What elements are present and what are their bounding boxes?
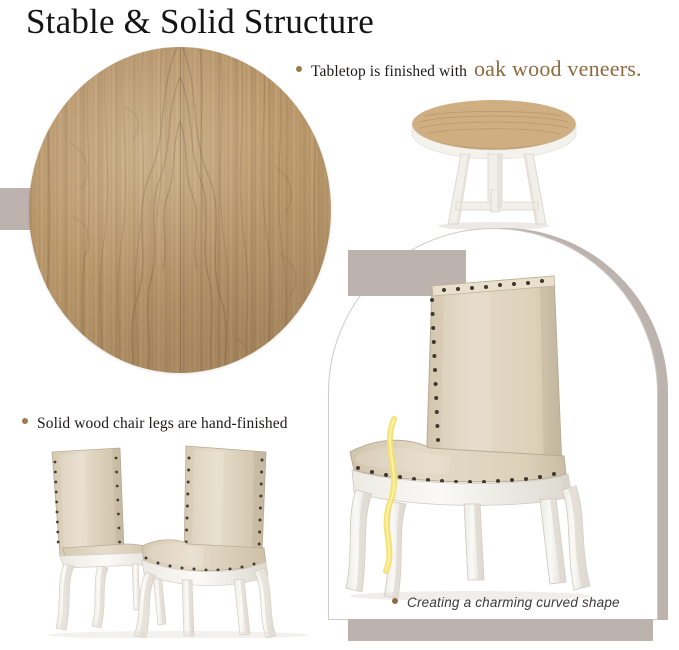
yellow-highlight-curve-icon — [372, 415, 412, 575]
decorative-block-bottom — [348, 619, 653, 641]
oak-tabletop-closeup-image — [29, 47, 331, 373]
callout-curved-shape-text: Creating a charming curved shape — [407, 595, 620, 610]
callout-tabletop-lead: Tabletop is finished with — [311, 63, 467, 81]
oak-lighting-overlay — [29, 47, 331, 373]
page-title: Stable & Solid Structure — [26, 2, 374, 42]
bullet-dot-icon — [296, 66, 302, 72]
infographic-canvas: Stable & Solid Structure — [0, 0, 679, 650]
callout-tabletop: Tabletop is finished with oak wood venee… — [296, 56, 642, 82]
callout-chair-legs: Solid wood chair legs are hand-finished — [22, 415, 288, 433]
bullet-dot-icon — [392, 598, 398, 604]
callout-curved-shape: Creating a charming curved shape — [392, 595, 620, 610]
bullet-dot-icon — [22, 418, 28, 424]
pair-of-chairs-image — [28, 438, 328, 638]
round-dining-table-image — [398, 92, 590, 234]
callout-tabletop-accent: oak wood veneers. — [474, 56, 642, 82]
callout-chair-legs-text: Solid wood chair legs are hand-finished — [37, 415, 288, 433]
